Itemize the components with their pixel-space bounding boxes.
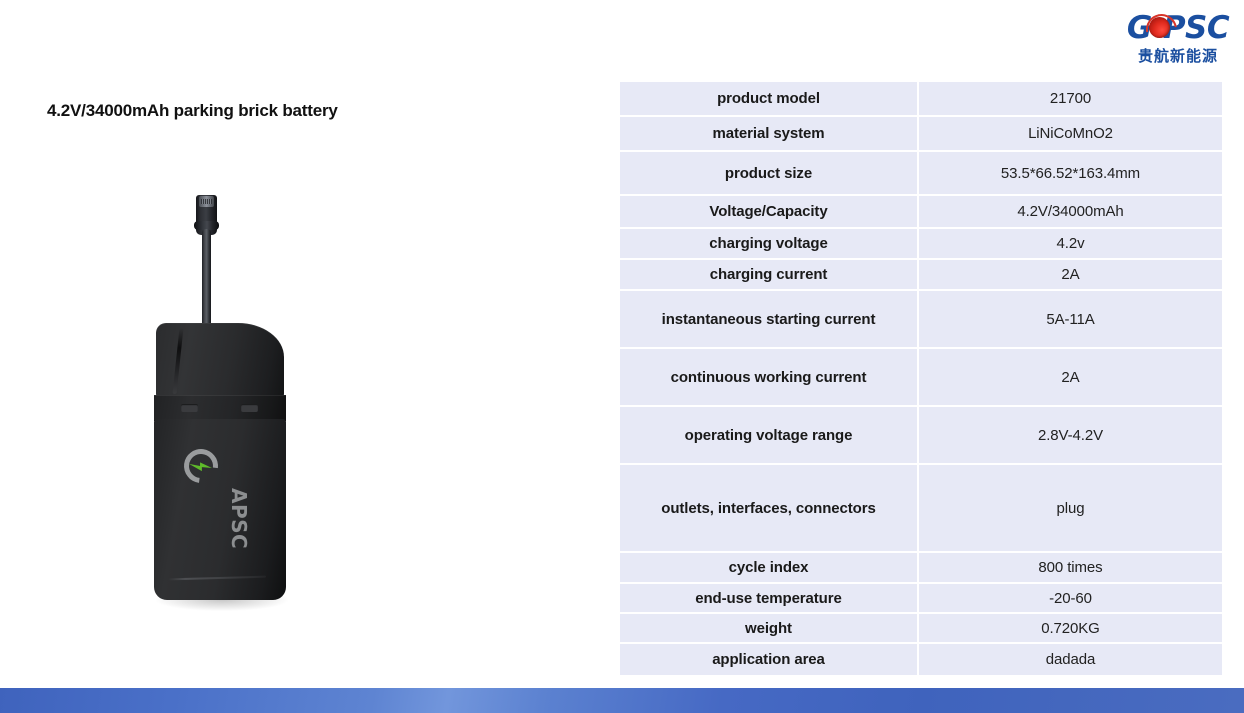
- spec-label-cell: cycle index: [620, 553, 919, 584]
- table-row: Voltage/Capacity4.2V/34000mAh: [620, 196, 1222, 229]
- table-row: outlets, interfaces, connectorsplug: [620, 465, 1222, 553]
- red-swirl-orb-icon: [1149, 17, 1170, 38]
- page-title: 4.2V/34000mAh parking brick battery: [47, 101, 338, 121]
- spec-label-cell: weight: [620, 614, 919, 644]
- spec-label-cell: charging voltage: [620, 229, 919, 260]
- c-ring-lightning-bolt-icon: [184, 449, 218, 483]
- spec-value-cell: 4.2V/34000mAh: [919, 196, 1222, 229]
- spec-label-cell: instantaneous starting current: [620, 291, 919, 349]
- spec-value-cell: LiNiCoMnO2: [919, 117, 1222, 152]
- spec-label-cell: material system: [620, 117, 919, 152]
- brand-chinese-name: 贵航新能源: [1120, 46, 1236, 66]
- battery-logo: APSC: [145, 482, 257, 516]
- table-row: charging current2A: [620, 260, 1222, 291]
- specification-table-body: product model21700material systemLiNiCoM…: [620, 82, 1222, 675]
- table-row: product model21700: [620, 82, 1222, 117]
- spec-label-cell: end-use temperature: [620, 584, 919, 614]
- spec-value-cell: -20-60: [919, 584, 1222, 614]
- spec-value-cell: 2A: [919, 349, 1222, 407]
- spec-label-cell: product size: [620, 152, 919, 196]
- table-row: product size53.5*66.52*163.4mm: [620, 152, 1222, 196]
- spec-label-cell: continuous working current: [620, 349, 919, 407]
- table-row: instantaneous starting current5A-11A: [620, 291, 1222, 349]
- spec-value-cell: dadada: [919, 644, 1222, 675]
- spec-label-cell: charging current: [620, 260, 919, 291]
- product-photo: APSC: [150, 195, 290, 615]
- table-row: weight0.720KG: [620, 614, 1222, 644]
- brand-wordmark: GPSC: [1120, 10, 1236, 46]
- spec-value-cell: 2.8V-4.2V: [919, 407, 1222, 465]
- battery-seam-tab-right: [241, 404, 258, 412]
- spec-label-cell: Voltage/Capacity: [620, 196, 919, 229]
- connector-pins-icon: [199, 196, 214, 207]
- spec-value-cell: 800 times: [919, 553, 1222, 584]
- table-row: cycle index800 times: [620, 553, 1222, 584]
- spec-label-cell: application area: [620, 644, 919, 675]
- footer-band: [0, 688, 1244, 713]
- spec-value-cell: 0.720KG: [919, 614, 1222, 644]
- spec-label-cell: product model: [620, 82, 919, 117]
- spec-label-cell: outlets, interfaces, connectors: [620, 465, 919, 553]
- brand-logo: GPSC 贵航新能源: [1120, 10, 1236, 72]
- battery-seam-band: [154, 395, 286, 421]
- spec-value-cell: plug: [919, 465, 1222, 553]
- spec-value-cell: 2A: [919, 260, 1222, 291]
- battery-seam-tab-left: [181, 404, 198, 412]
- table-row: operating voltage range2.8V-4.2V: [620, 407, 1222, 465]
- table-row: application areadadada: [620, 644, 1222, 675]
- spec-value-cell: 4.2v: [919, 229, 1222, 260]
- table-row: end-use temperature-20-60: [620, 584, 1222, 614]
- battery-logo-text: APSC: [227, 488, 251, 549]
- table-row: charging voltage4.2v: [620, 229, 1222, 260]
- spec-value-cell: 21700: [919, 82, 1222, 117]
- specification-table: product model21700material systemLiNiCoM…: [620, 82, 1222, 675]
- table-row: material systemLiNiCoMnO2: [620, 117, 1222, 152]
- table-row: continuous working current2A: [620, 349, 1222, 407]
- spec-value-cell: 5A-11A: [919, 291, 1222, 349]
- spec-label-cell: operating voltage range: [620, 407, 919, 465]
- spec-value-cell: 53.5*66.52*163.4mm: [919, 152, 1222, 196]
